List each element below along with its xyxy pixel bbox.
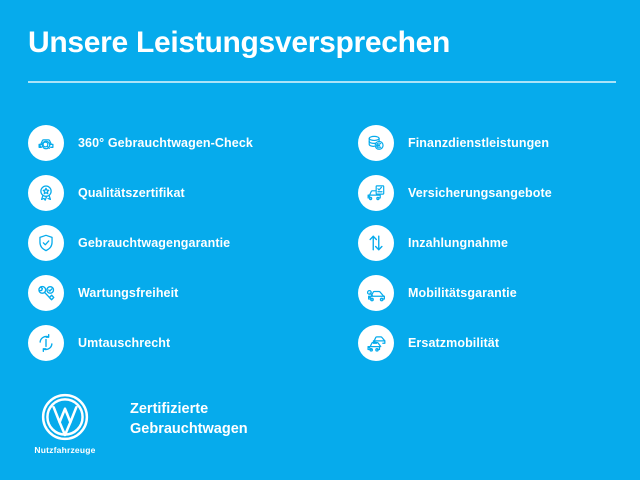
- feature-item-versicherungsangebote[interactable]: Versicherungsangebote: [358, 168, 640, 218]
- vw-logo-subtitle: Nutzfahrzeuge: [34, 445, 95, 455]
- feature-label: Umtauschrecht: [78, 336, 170, 351]
- feature-item-mobilitaetsgarantie[interactable]: Mobilitätsgarantie: [358, 268, 640, 318]
- title-divider: [28, 81, 616, 83]
- car-document-icon: [358, 175, 394, 211]
- shield-check-icon: [28, 225, 64, 261]
- feature-item-gebrauchtwagen-check[interactable]: 360° Gebrauchtwagen-Check: [28, 118, 328, 168]
- header: Unsere Leistungsversprechen: [28, 26, 616, 83]
- page-title: Unsere Leistungsversprechen: [28, 26, 616, 59]
- car-magnifier-icon: [28, 125, 64, 161]
- feature-item-gebrauchtwagengarantie[interactable]: Gebrauchtwagengarantie: [28, 218, 328, 268]
- award-rosette-icon: [28, 175, 64, 211]
- footer-headline-line1: Zertifizierte: [130, 400, 248, 420]
- coins-euro-icon: [358, 125, 394, 161]
- feature-label: 360° Gebrauchtwagen-Check: [78, 136, 253, 151]
- feature-item-ersatzmobilitaet[interactable]: Ersatzmobilität: [358, 318, 640, 368]
- footer-headline-line2: Gebrauchtwagen: [130, 420, 248, 440]
- feature-column-right: Finanzdienstleistungen Versicherungsange…: [358, 118, 640, 368]
- two-cars-icon: [358, 325, 394, 361]
- feature-item-qualitaetszertifikat[interactable]: Qualitätszertifikat: [28, 168, 328, 218]
- vw-brand-block: Nutzfahrzeuge: [28, 392, 102, 455]
- features-section: 360° Gebrauchtwagen-Check Qualitätszerti…: [0, 118, 640, 368]
- feature-column-left: 360° Gebrauchtwagen-Check Qualitätszerti…: [28, 118, 328, 368]
- feature-label: Wartungsfreiheit: [78, 286, 178, 301]
- feature-item-umtauschrecht[interactable]: Umtauschrecht: [28, 318, 328, 368]
- promo-banner: Unsere Leistungsversprechen 360° Gebrauc…: [0, 0, 640, 480]
- wrench-check-icon: [28, 275, 64, 311]
- feature-item-inzahlungnahme[interactable]: Inzahlungnahme: [358, 218, 640, 268]
- feature-label: Inzahlungnahme: [408, 236, 508, 251]
- exchange-arrows-icon: [28, 325, 64, 361]
- feature-label: Mobilitätsgarantie: [408, 286, 517, 301]
- car-wrench-icon: [358, 275, 394, 311]
- feature-label: Versicherungsangebote: [408, 186, 552, 201]
- feature-label: Ersatzmobilität: [408, 336, 499, 351]
- feature-item-finanzdienstleistungen[interactable]: Finanzdienstleistungen: [358, 118, 640, 168]
- feature-label: Gebrauchtwagengarantie: [78, 236, 230, 251]
- feature-label: Finanzdienstleistungen: [408, 136, 549, 151]
- up-down-arrows-icon: [358, 225, 394, 261]
- feature-item-wartungsfreiheit[interactable]: Wartungsfreiheit: [28, 268, 328, 318]
- footer-headline: Zertifizierte Gebrauchtwagen: [130, 400, 248, 439]
- feature-label: Qualitätszertifikat: [78, 186, 185, 201]
- footer: Nutzfahrzeuge Zertifizierte Gebrauchtwag…: [28, 392, 248, 455]
- vw-logo: [40, 392, 90, 442]
